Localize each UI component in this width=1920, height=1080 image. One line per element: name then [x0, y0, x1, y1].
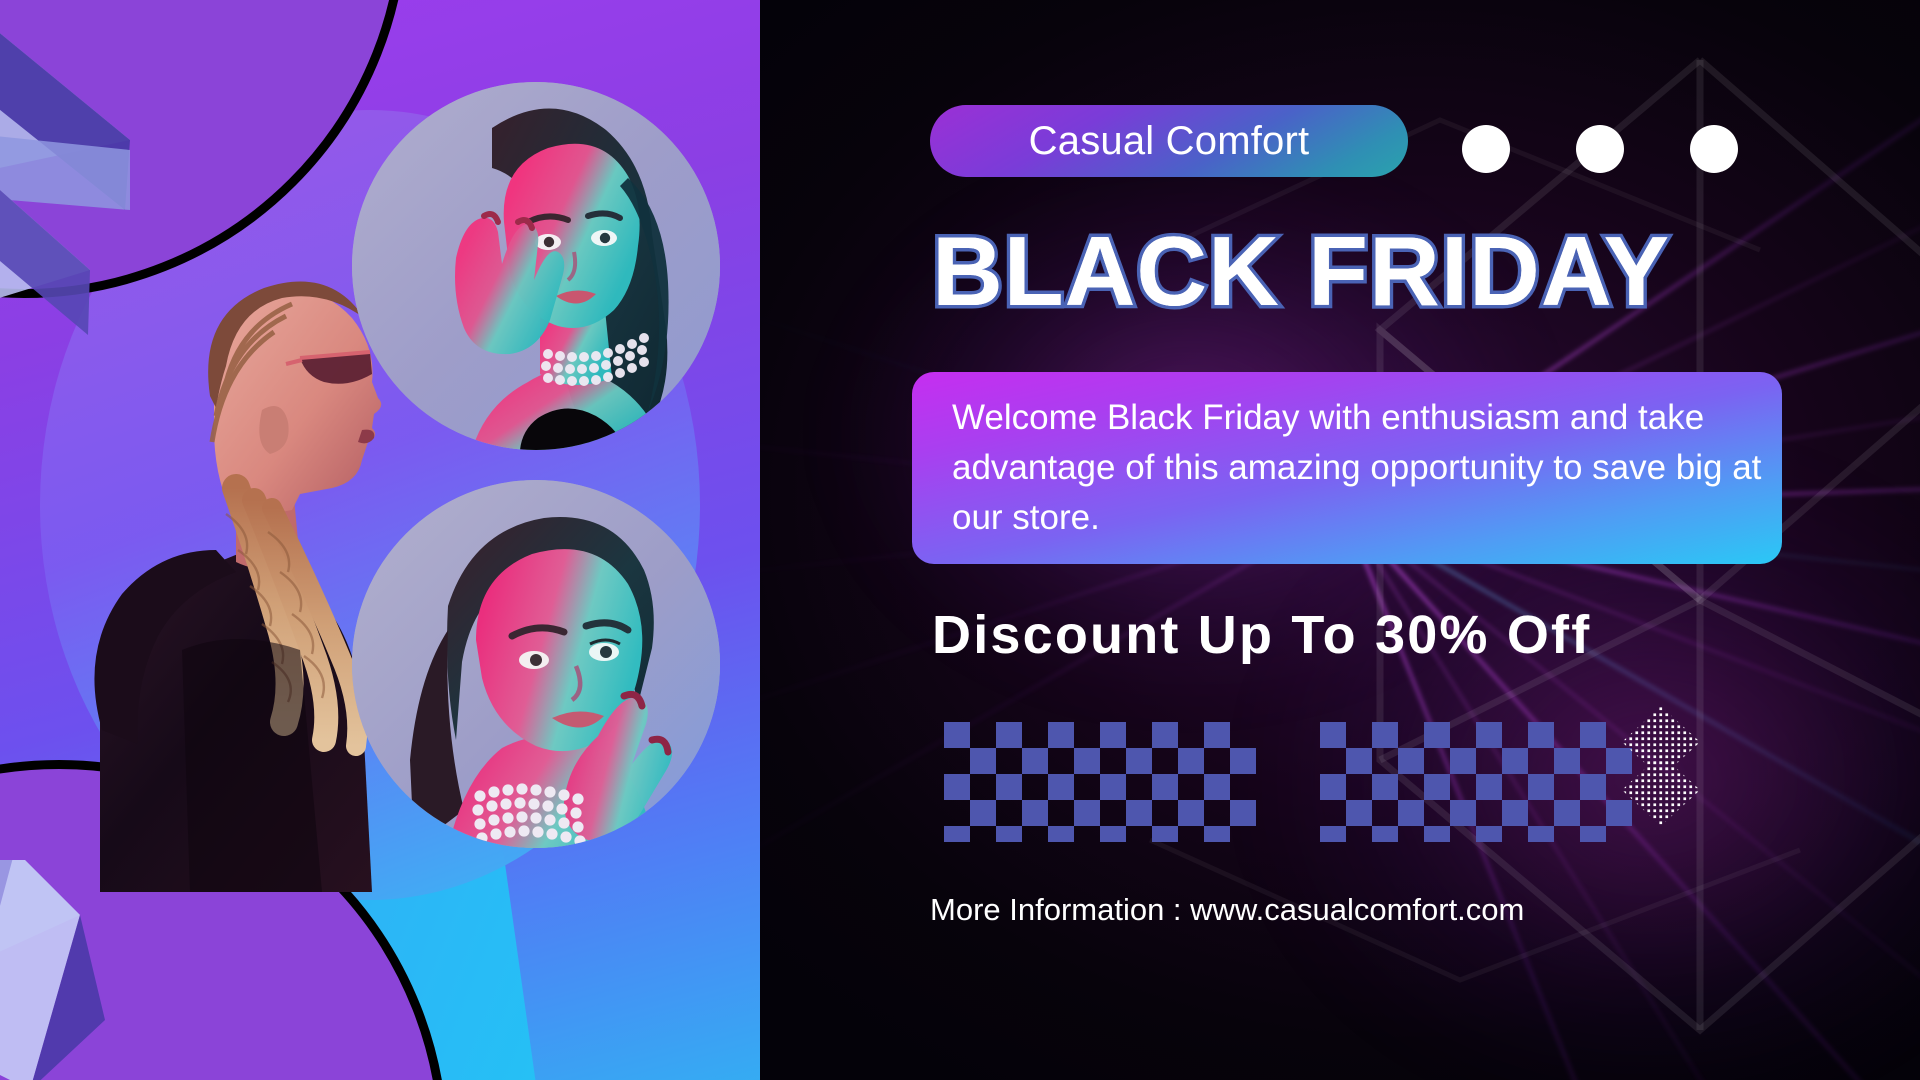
description-card: Welcome Black Friday with enthusiasm and… — [912, 372, 1782, 564]
chevron-arrow-icon-bottom-left — [0, 860, 310, 1080]
description-text: Welcome Black Friday with enthusiasm and… — [912, 393, 1782, 543]
dot-indicator-3 — [1690, 125, 1738, 173]
discount-headline: Discount Up To 30% Off — [932, 604, 1591, 666]
brand-pill[interactable]: Casual Comfort — [930, 105, 1408, 177]
checkerboard-pattern-left — [944, 722, 1264, 842]
model-portrait-finger-to-lips — [352, 480, 720, 848]
dotted-diamond-decoration — [1616, 700, 1706, 830]
left-collage — [0, 0, 880, 1080]
black-friday-promo-banner: Casual Comfort BLACK FRIDAY BLACK FRIDAY… — [0, 0, 1920, 1080]
dot-indicator-group — [1462, 125, 1738, 173]
dot-indicator-1 — [1462, 125, 1510, 173]
checkerboard-pattern-right — [1320, 722, 1640, 842]
model-portrait-hand-to-face — [352, 82, 720, 450]
content-column: Casual Comfort BLACK FRIDAY BLACK FRIDAY… — [930, 0, 1920, 1080]
diamond-lower — [1622, 754, 1700, 826]
footer-more-information[interactable]: More Information : www.casualcomfort.com — [930, 892, 1524, 928]
page-title: BLACK FRIDAY — [932, 222, 1912, 320]
brand-pill-label: Casual Comfort — [1029, 119, 1310, 164]
dot-indicator-2 — [1576, 125, 1624, 173]
